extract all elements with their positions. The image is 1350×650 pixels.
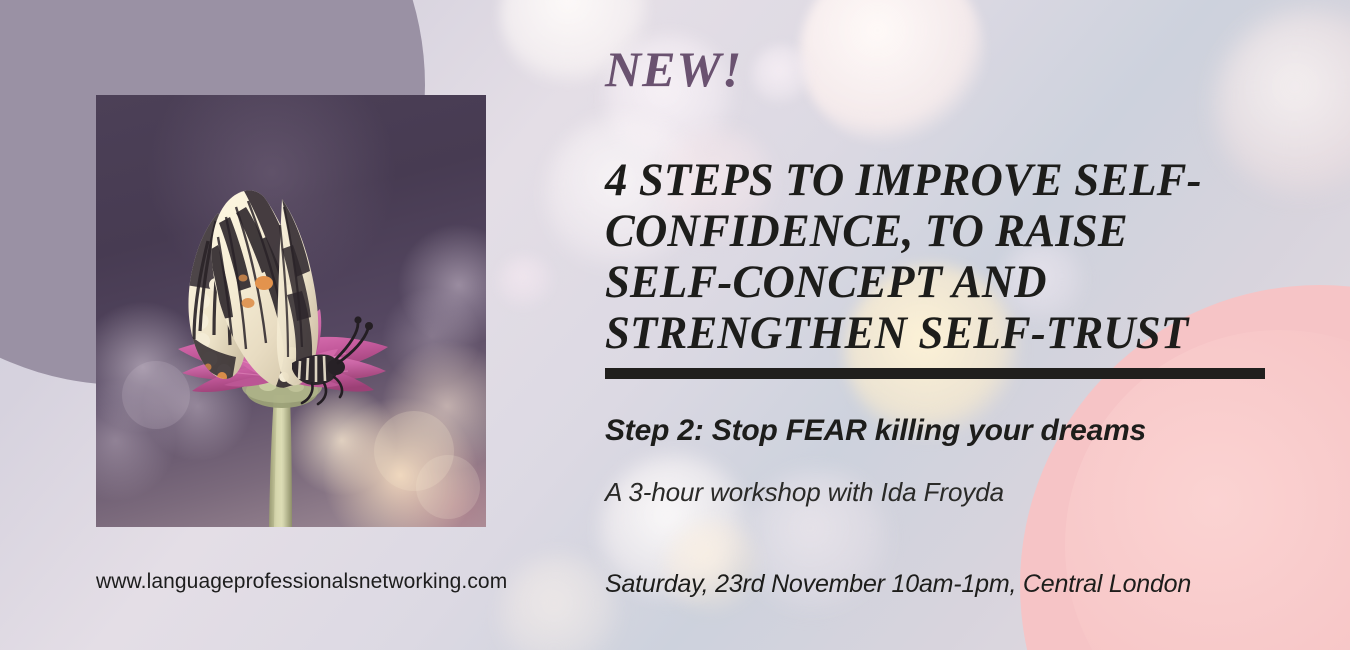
bokeh-orb <box>500 555 620 650</box>
bokeh-orb <box>752 45 812 105</box>
bokeh-orb <box>498 255 553 310</box>
step-subtitle: Step 2: Stop FEAR killing your dreams <box>605 414 1146 448</box>
bokeh-orb <box>800 0 985 145</box>
workshop-description: A 3-hour workshop with Ida Froyda <box>605 477 1004 508</box>
butterfly-photo <box>96 95 486 527</box>
divider-rule <box>605 368 1265 379</box>
page-title: 4 STEPS TO IMPROVE SELF-CONFIDENCE, TO R… <box>605 155 1251 359</box>
new-badge: NEW! <box>605 44 742 94</box>
event-datetime-location: Saturday, 23rd November 10am-1pm, Centra… <box>605 570 1191 599</box>
website-url[interactable]: www.languageprofessionalsnetworking.com <box>96 570 507 594</box>
butterfly-illustration <box>96 95 486 527</box>
promotional-banner: www.languageprofessionalsnetworking.com … <box>0 0 1350 650</box>
bokeh-orb <box>665 520 760 615</box>
